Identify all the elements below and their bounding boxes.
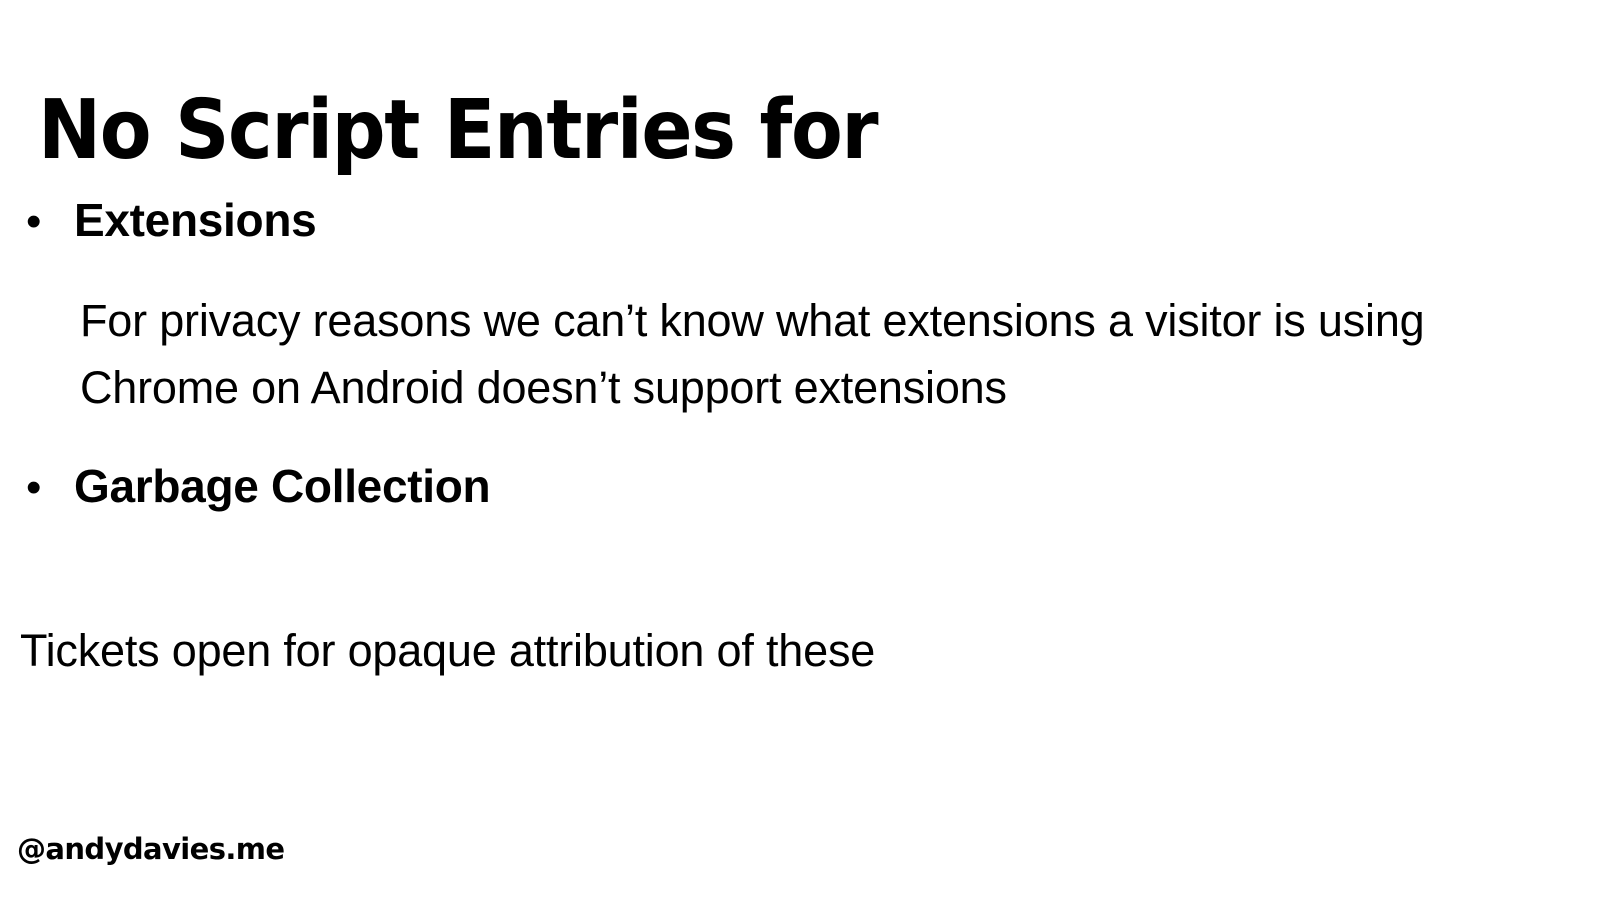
extensions-detail-line-1: For privacy reasons we can’t know what e… <box>80 287 1425 354</box>
closing-note: Tickets open for opaque attribution of t… <box>20 617 875 684</box>
extensions-detail-line-2: Chrome on Android doesn’t support extens… <box>80 354 1425 421</box>
bullet-point-icon: • <box>0 194 74 250</box>
bullet-item-garbage-collection: • Garbage Collection <box>0 458 490 516</box>
extensions-detail-block: For privacy reasons we can’t know what e… <box>80 287 1425 421</box>
bullet-item-extensions: • Extensions <box>0 192 316 250</box>
page-title: No Script Entries for <box>38 81 877 181</box>
bullet-point-icon: • <box>0 460 74 516</box>
footer-handle: @andydavies.me <box>17 829 284 869</box>
bullet-label-extensions: Extensions <box>74 192 316 248</box>
presentation-slide: No Script Entries for • Extensions For p… <box>0 0 1600 900</box>
bullet-label-garbage-collection: Garbage Collection <box>74 458 490 514</box>
